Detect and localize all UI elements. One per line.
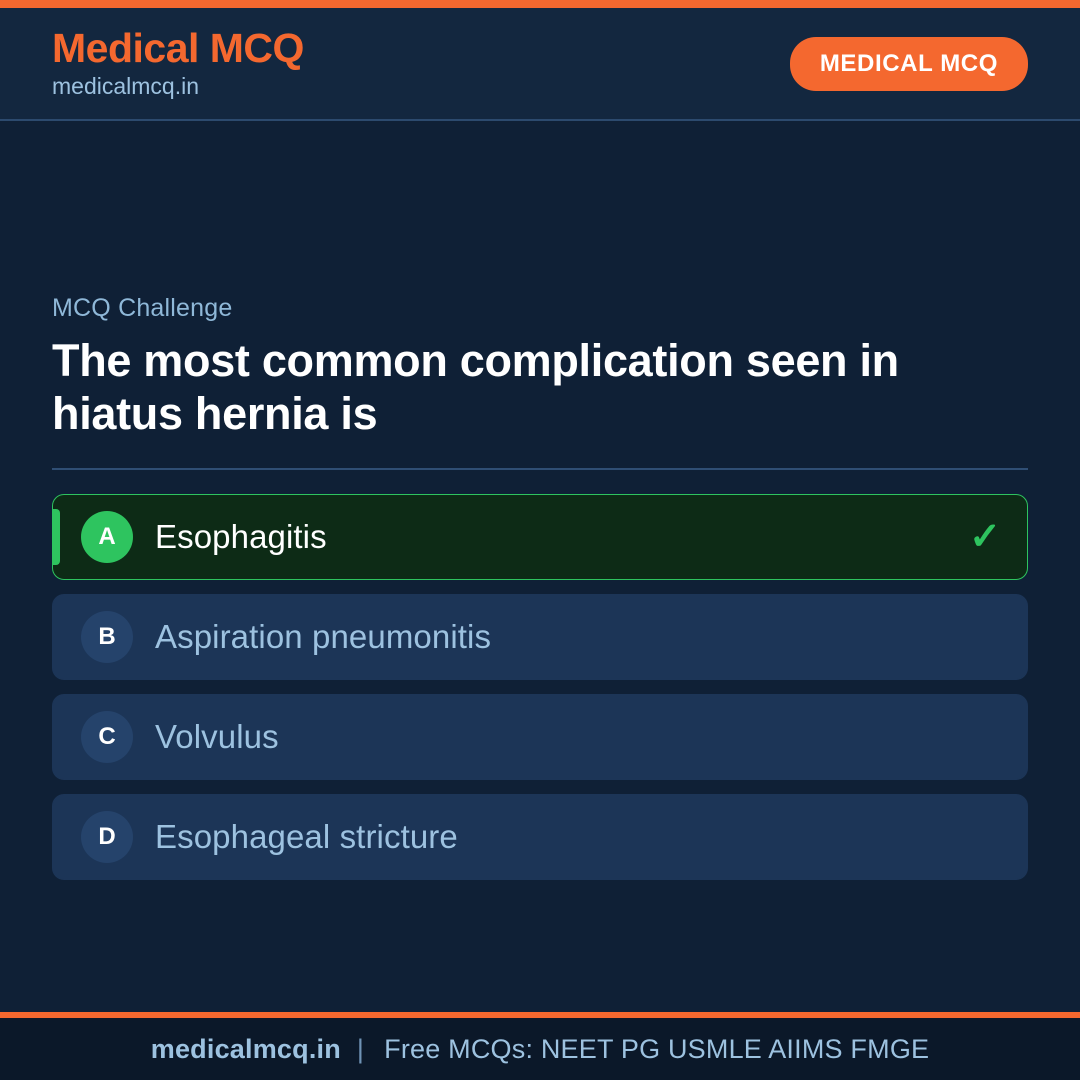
option-label: Volvulus: [155, 717, 279, 757]
page-footer: medicalmcq.in | Free MCQs: NEET PG USMLE…: [0, 1018, 1080, 1080]
option-b[interactable]: BAspiration pneumonitis: [52, 594, 1028, 680]
option-c[interactable]: CVolvulus: [52, 694, 1028, 780]
option-label: Aspiration pneumonitis: [155, 617, 491, 657]
option-a[interactable]: AEsophagitis✓: [52, 494, 1028, 580]
correct-accent-bar: [53, 509, 60, 565]
footer-separator: |: [341, 1034, 380, 1065]
top-accent-bar: [0, 0, 1080, 8]
option-d[interactable]: DEsophageal stricture: [52, 794, 1028, 880]
question-kicker: MCQ Challenge: [52, 293, 1028, 323]
option-label: Esophageal stricture: [155, 817, 458, 857]
option-letter-badge: A: [81, 511, 133, 563]
question-divider: [52, 468, 1028, 470]
option-letter-badge: B: [81, 611, 133, 663]
option-letter-badge: C: [81, 711, 133, 763]
question-body: MCQ Challenge The most common complicati…: [0, 121, 1080, 1012]
correct-check-icon: ✓: [969, 518, 1001, 556]
option-letter-badge: D: [81, 811, 133, 863]
brand-block: Medical MCQ medicalmcq.in: [52, 27, 304, 99]
footer-tagline: Free MCQs: NEET PG USMLE AIIMS FMGE: [380, 1034, 929, 1065]
question-text: The most common complication seen in hia…: [52, 334, 1028, 440]
page-header: Medical MCQ medicalmcq.in MEDICAL MCQ: [0, 8, 1080, 121]
brand-title: Medical MCQ: [52, 27, 304, 70]
footer-site: medicalmcq.in: [151, 1034, 341, 1065]
options-list: AEsophagitis✓BAspiration pneumonitisCVol…: [52, 494, 1028, 880]
option-label: Esophagitis: [155, 517, 327, 557]
header-badge: MEDICAL MCQ: [790, 37, 1028, 91]
question-block: MCQ Challenge The most common complicati…: [52, 293, 1028, 470]
brand-subtitle: medicalmcq.in: [52, 74, 304, 99]
mcq-card: Medical MCQ medicalmcq.in MEDICAL MCQ MC…: [0, 0, 1080, 1080]
